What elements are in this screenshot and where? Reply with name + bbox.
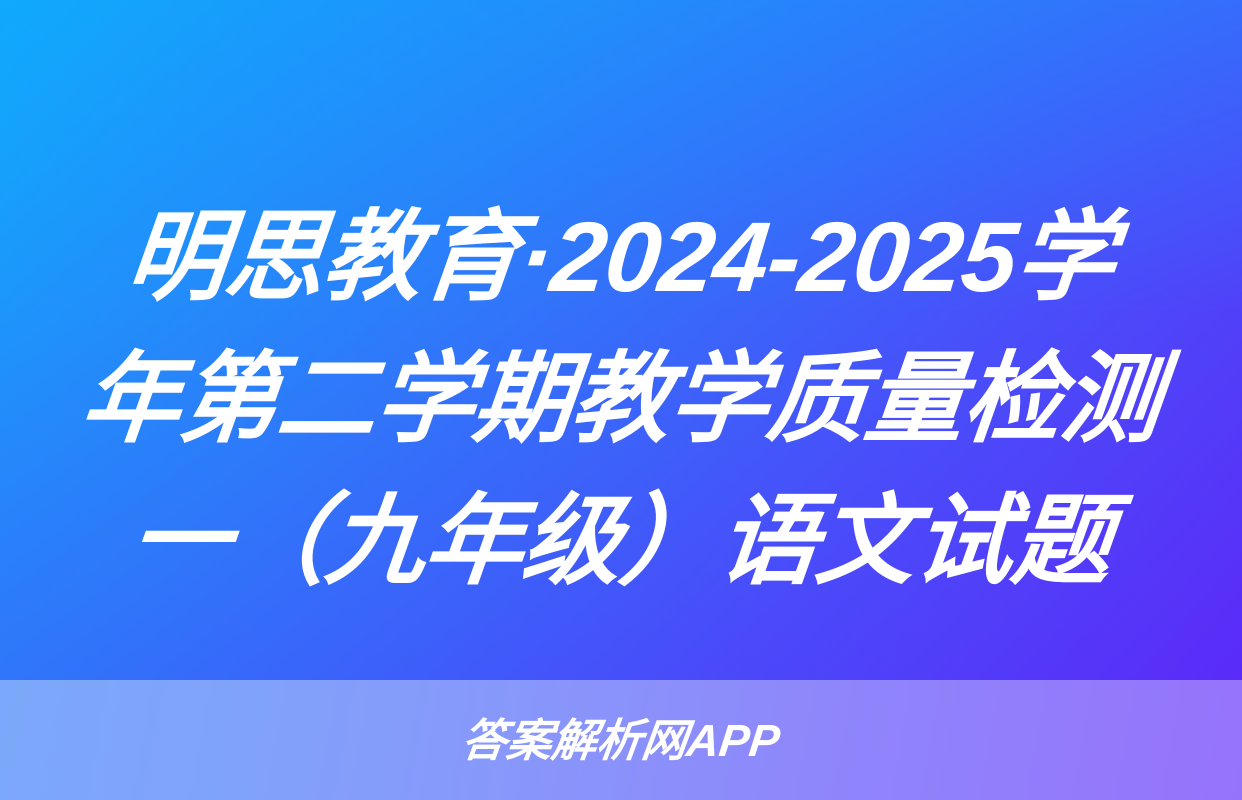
gradient-hero-panel: 明思教育·2024-2025学 年第二学期教学质量检测 一（九年级）语文试题 [0,0,1242,680]
page-title: 明思教育·2024-2025学 年第二学期教学质量检测 一（九年级）语文试题 [0,186,1242,612]
exam-cover-card: 明思教育·2024-2025学 年第二学期教学质量检测 一（九年级）语文试题 答… [0,0,1242,800]
title-line-1: 明思教育·2024-2025学 [53,186,1190,328]
footer-brand-band: 答案解析网APP [0,680,1242,800]
brand-watermark-label: 答案解析网APP [459,718,782,763]
title-line-2: 年第二学期教学质量检测 [53,328,1190,470]
title-line-3: 一（九年级）语文试题 [53,470,1190,612]
